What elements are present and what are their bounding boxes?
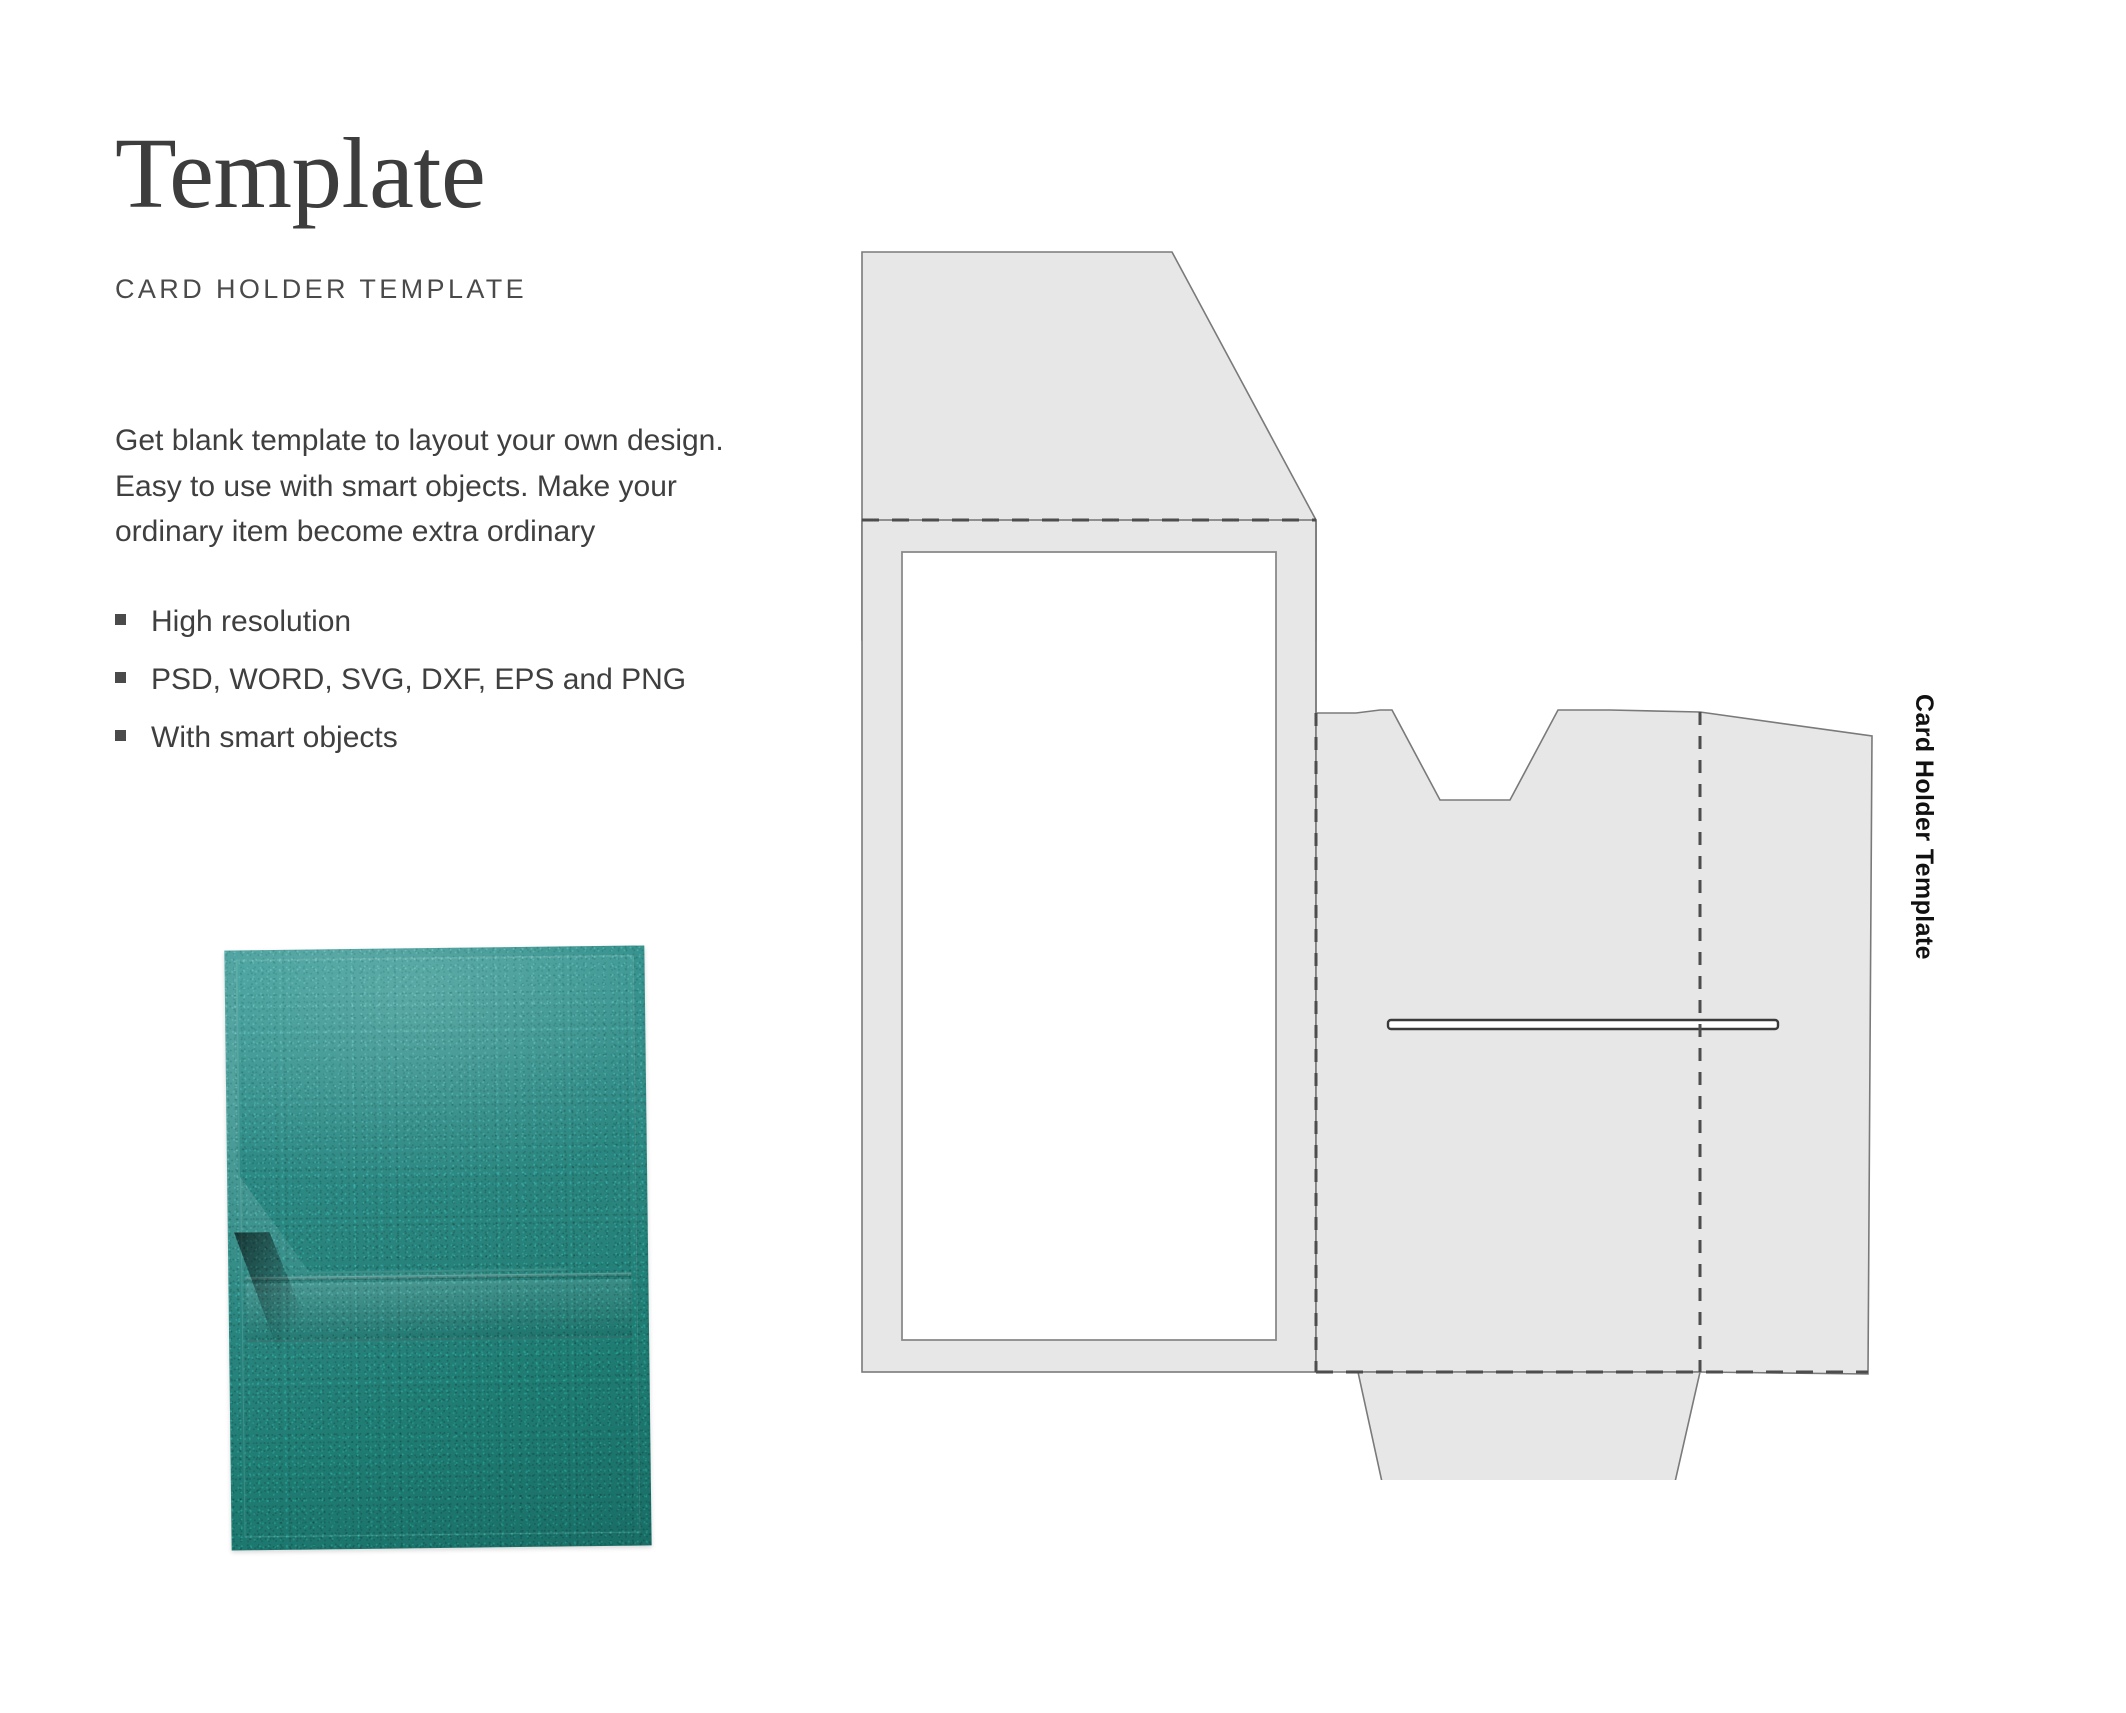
square-bullet-icon — [115, 672, 126, 683]
square-bullet-icon — [115, 614, 126, 625]
page-title: Template — [115, 120, 775, 226]
dieline-bottom-flap — [1358, 1372, 1700, 1480]
feature-label: PSD, WORD, SVG, DXF, EPS and PNG — [151, 665, 686, 695]
list-item: High resolution — [115, 607, 775, 637]
feature-label: High resolution — [151, 607, 351, 637]
dieline-card-slot — [1388, 1020, 1778, 1029]
square-bullet-icon — [115, 730, 126, 741]
card-holder-dieline: .cut { fill:#e7e7e7; stroke:#7a7a7a; str… — [820, 220, 1940, 1480]
page-subtitle: CARD HOLDER TEMPLATE — [115, 274, 775, 305]
paper-grain-texture — [224, 945, 651, 1550]
feature-list: High resolution PSD, WORD, SVG, DXF, EPS… — [115, 607, 775, 753]
side-caption: Card Holder Template — [1909, 694, 1938, 960]
feature-label: With smart objects — [151, 723, 398, 753]
description-paragraph: Get blank template to layout your own de… — [115, 418, 755, 555]
list-item: With smart objects — [115, 723, 775, 753]
list-item: PSD, WORD, SVG, DXF, EPS and PNG — [115, 665, 775, 695]
intro-column: Template CARD HOLDER TEMPLATE Get blank … — [115, 120, 775, 781]
card-holder-body — [224, 945, 651, 1550]
dieline-back-panel — [1316, 520, 1872, 1374]
dieline-window-cutout — [902, 552, 1276, 1340]
teal-card-holder-photo — [228, 948, 648, 1548]
dieline-svg: .cut { fill:#e7e7e7; stroke:#7a7a7a; str… — [820, 220, 1940, 1480]
